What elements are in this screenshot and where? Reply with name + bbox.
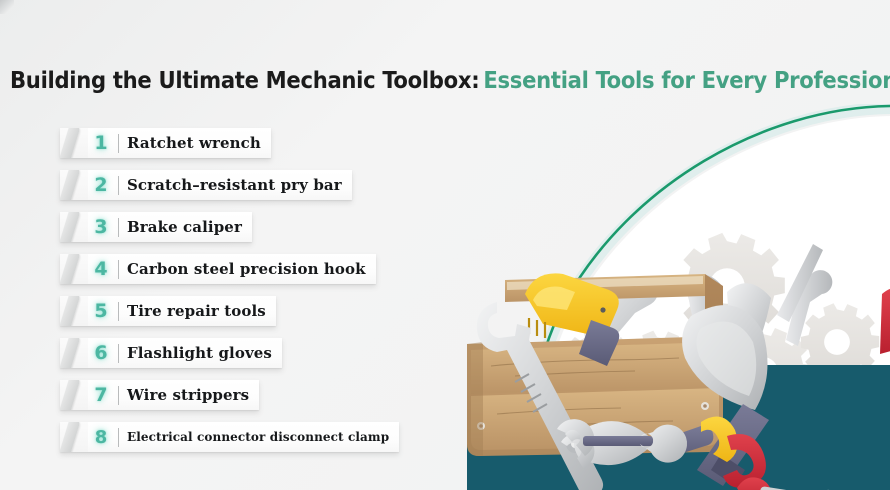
list-item-label: Electrical connector disconnect clamp bbox=[127, 430, 389, 444]
list-item[interactable]: 8 Electrical connector disconnect clamp bbox=[60, 422, 399, 452]
list-item-divider bbox=[118, 134, 119, 153]
list-item-number: 3 bbox=[88, 216, 114, 238]
list-item-divider bbox=[118, 218, 119, 237]
list-item[interactable]: 4 Carbon steel precision hook bbox=[60, 254, 399, 284]
list-item-divider bbox=[118, 386, 119, 405]
list-item-number: 8 bbox=[88, 427, 114, 448]
slash-tab-icon bbox=[60, 128, 88, 158]
list-item-card[interactable]: 6 Flashlight gloves bbox=[60, 338, 282, 368]
slash-tab-icon bbox=[60, 296, 88, 326]
list-item-card[interactable]: 1 Ratchet wrench bbox=[60, 128, 271, 158]
list-item-divider bbox=[118, 344, 119, 363]
list-item-label: Tire repair tools bbox=[127, 302, 266, 320]
list-item-card[interactable]: 3 Brake caliper bbox=[60, 212, 252, 242]
corner-accent bbox=[0, 0, 14, 14]
list-item-number: 7 bbox=[88, 384, 114, 406]
slash-tab-icon bbox=[60, 380, 88, 410]
list-item-card[interactable]: 8 Electrical connector disconnect clamp bbox=[60, 422, 399, 452]
list-item-label: Scratch–resistant pry bar bbox=[127, 176, 342, 194]
list-item-card[interactable]: 2 Scratch–resistant pry bar bbox=[60, 170, 352, 200]
list-item-divider bbox=[118, 302, 119, 321]
list-item-number: 4 bbox=[88, 258, 114, 280]
list-item-number: 6 bbox=[88, 342, 114, 364]
list-item[interactable]: 2 Scratch–resistant pry bar bbox=[60, 170, 399, 200]
list-item-card[interactable]: 7 Wire strippers bbox=[60, 380, 259, 410]
page-title-main: Building the Ultimate Mechanic Toolbox: bbox=[10, 66, 479, 94]
list-item[interactable]: 5 Tire repair tools bbox=[60, 296, 399, 326]
list-item-number: 5 bbox=[88, 300, 114, 322]
slash-tab-icon bbox=[60, 254, 88, 284]
list-item-divider bbox=[118, 260, 119, 279]
slash-tab-icon bbox=[60, 212, 88, 242]
list-item-label: Flashlight gloves bbox=[127, 344, 272, 362]
list-item-label: Brake caliper bbox=[127, 218, 242, 236]
list-item-divider bbox=[118, 428, 119, 447]
list-item-label: Wire strippers bbox=[127, 386, 249, 404]
page-title: Building the Ultimate Mechanic Toolbox:E… bbox=[10, 66, 890, 94]
list-item[interactable]: 3 Brake caliper bbox=[60, 212, 399, 242]
list-item-label: Ratchet wrench bbox=[127, 134, 261, 152]
list-item-number: 1 bbox=[88, 132, 114, 154]
list-item-card[interactable]: 5 Tire repair tools bbox=[60, 296, 276, 326]
tool-list: 1 Ratchet wrench 2 Scratch–resistant pry… bbox=[60, 128, 399, 464]
list-item[interactable]: 6 Flashlight gloves bbox=[60, 338, 399, 368]
list-item[interactable]: 7 Wire strippers bbox=[60, 380, 399, 410]
list-item-divider bbox=[118, 176, 119, 195]
toolbox-illustration bbox=[405, 104, 890, 490]
list-item-card[interactable]: 4 Carbon steel precision hook bbox=[60, 254, 376, 284]
page-title-accent: Essential Tools for Every Professional bbox=[483, 66, 890, 94]
slash-tab-icon bbox=[60, 170, 88, 200]
slash-tab-icon bbox=[60, 422, 88, 452]
list-item-number: 2 bbox=[88, 174, 114, 196]
slash-tab-icon bbox=[60, 338, 88, 368]
list-item-label: Carbon steel precision hook bbox=[127, 260, 366, 278]
list-item[interactable]: 1 Ratchet wrench bbox=[60, 128, 399, 158]
slide-canvas: Building the Ultimate Mechanic Toolbox:E… bbox=[0, 0, 890, 490]
